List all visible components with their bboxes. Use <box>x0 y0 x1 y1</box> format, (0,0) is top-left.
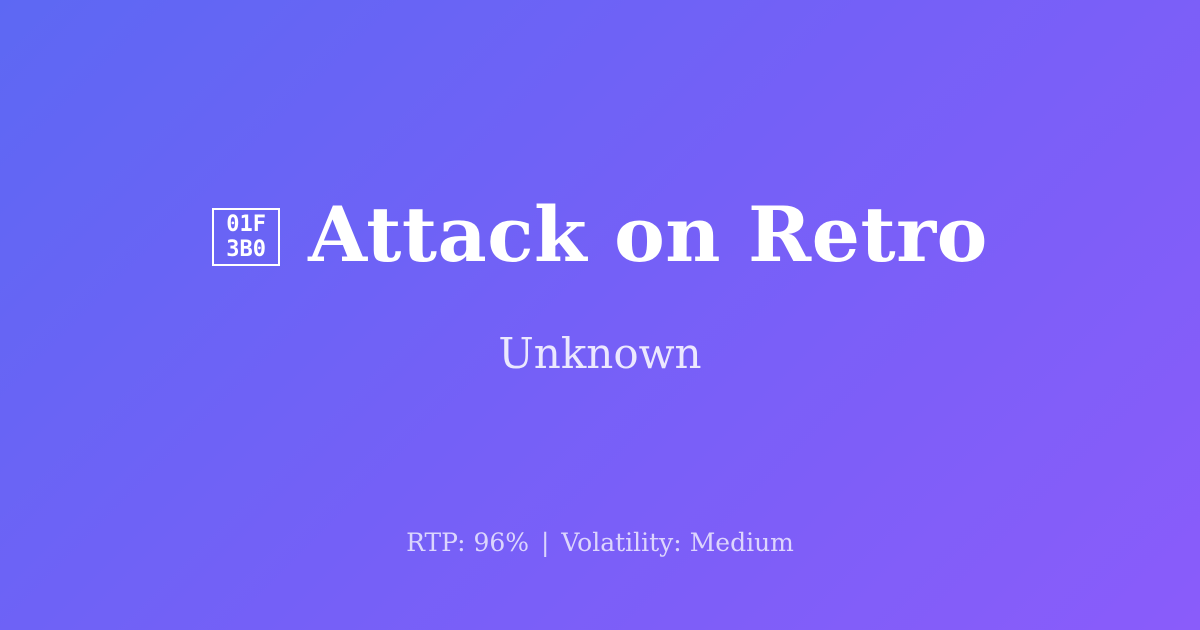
volatility-value: Medium <box>690 528 794 557</box>
rtp-value: 96% <box>473 528 529 557</box>
rtp-label: RTP: <box>406 528 465 557</box>
game-preview-card: 01F 3B0 Attack on Retro Unknown RTP: 96%… <box>0 0 1200 630</box>
title-row: 01F 3B0 Attack on Retro <box>0 192 1200 278</box>
codepoint-top-line: 01F <box>226 212 266 237</box>
volatility-label: Volatility: <box>561 528 681 557</box>
codepoint-bottom-line: 3B0 <box>226 237 266 262</box>
game-meta-footer: RTP: 96% | Volatility: Medium <box>0 528 1200 558</box>
game-provider-subtitle: Unknown <box>498 330 701 378</box>
meta-separator: | <box>537 528 553 557</box>
game-title: Attack on Retro <box>308 192 988 278</box>
slot-machine-icon: 01F 3B0 <box>212 208 280 266</box>
